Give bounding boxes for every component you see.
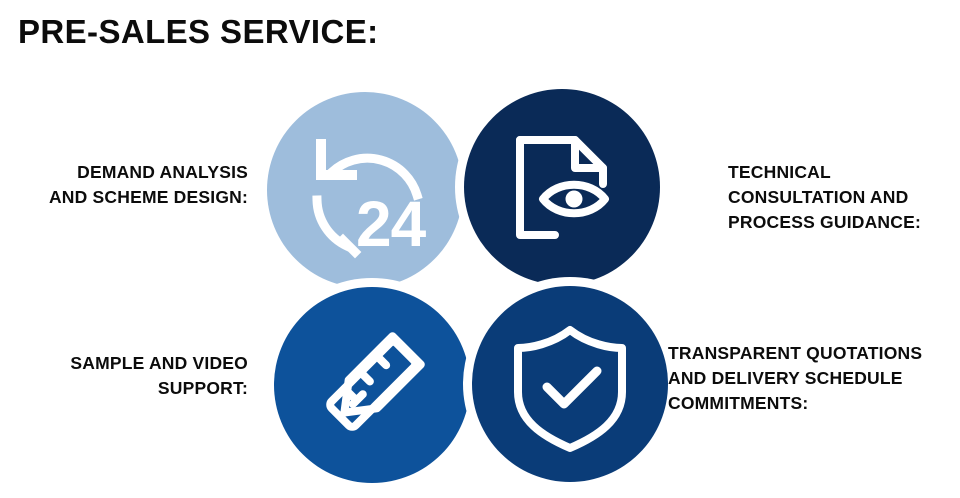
label-transparent-quotations: TRANSPARENT QUOTATIONS AND DELIVERY SCHE…: [668, 341, 960, 416]
circle-transparent-quotations[interactable]: [472, 286, 668, 482]
label-sample-video-support: SAMPLE AND VIDEO SUPPORT:: [0, 351, 248, 401]
svg-text:24: 24: [356, 188, 427, 260]
hours-badge-label: 24: [356, 188, 427, 260]
circle-sample-video-support[interactable]: [274, 287, 470, 483]
label-line: SAMPLE AND VIDEO: [0, 351, 248, 376]
label-line: SUPPORT:: [0, 376, 248, 401]
label-line: DEMAND ANALYSIS: [0, 160, 248, 185]
circle-technical-consultation[interactable]: [464, 89, 660, 285]
label-line: TECHNICAL: [728, 160, 960, 185]
label-line: CONSULTATION AND: [728, 185, 960, 210]
label-line: AND DELIVERY SCHEDULE: [668, 366, 960, 391]
circle-demand-analysis[interactable]: 24: [267, 92, 463, 288]
label-line: COMMITMENTS:: [668, 391, 960, 416]
page-title: PRE-SALES SERVICE:: [18, 10, 379, 54]
label-demand-analysis: DEMAND ANALYSIS AND SCHEME DESIGN:: [0, 160, 248, 210]
label-technical-consultation: TECHNICAL CONSULTATION AND PROCESS GUIDA…: [728, 160, 960, 235]
label-line: TRANSPARENT QUOTATIONS: [668, 341, 960, 366]
service-circle-cluster: 24: [255, 80, 675, 490]
label-line: PROCESS GUIDANCE:: [728, 210, 960, 235]
infographic-canvas: PRE-SALES SERVICE:: [0, 0, 960, 498]
label-line: AND SCHEME DESIGN:: [0, 185, 248, 210]
